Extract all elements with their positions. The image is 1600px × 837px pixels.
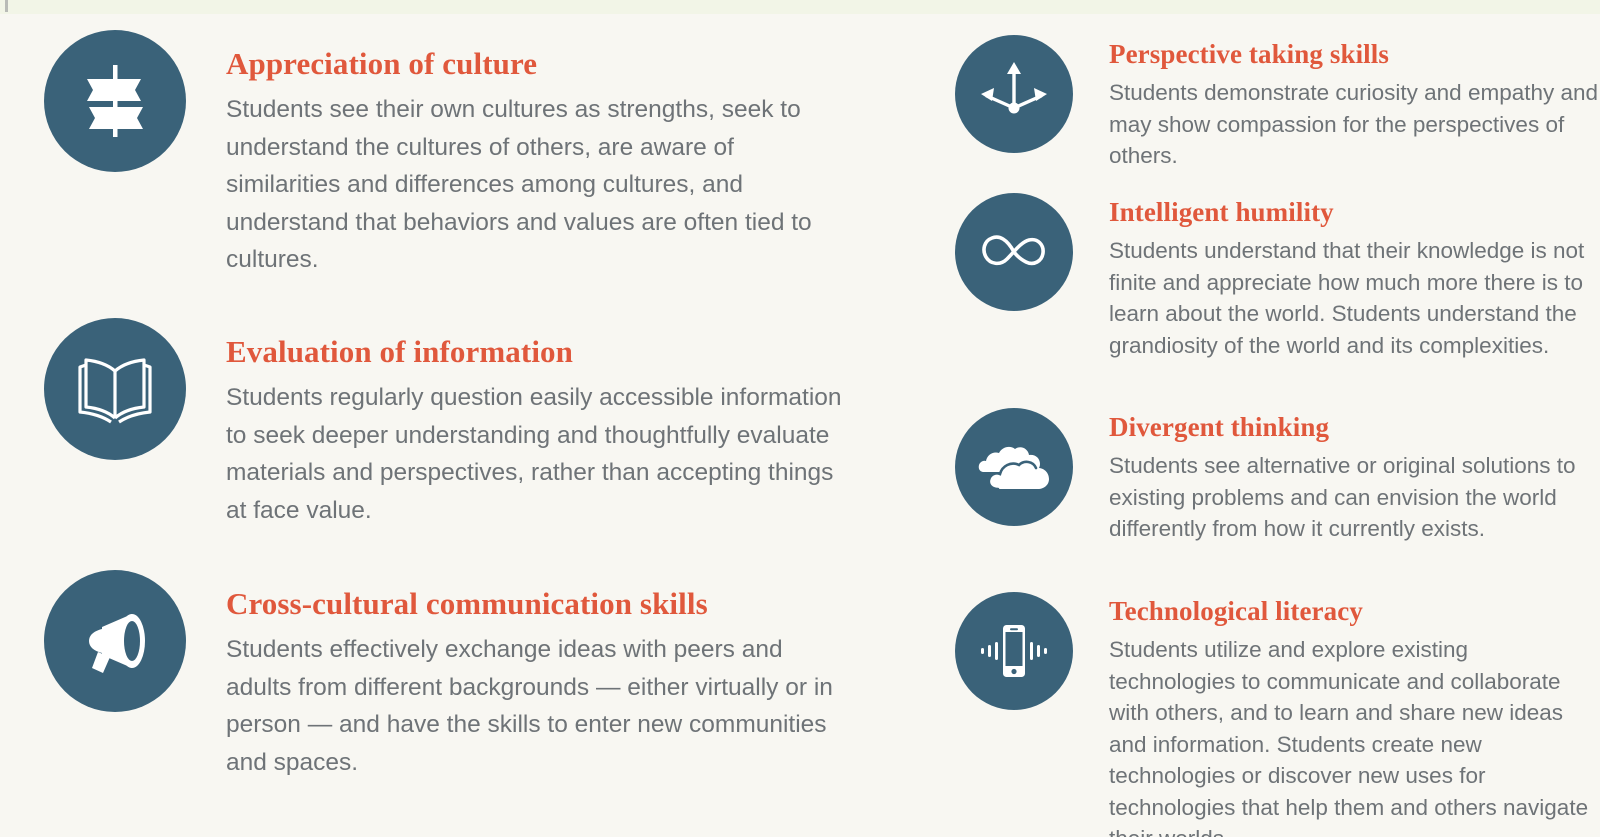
card-body: Divergent thinking Students see alternat… — [1073, 408, 1600, 545]
card-title: Appreciation of culture — [226, 47, 844, 81]
infinity-icon — [955, 193, 1073, 311]
card-description: Students utilize and explore existing te… — [1109, 634, 1600, 837]
card-perspective-taking-skills: Perspective taking skills Students demon… — [955, 35, 1600, 172]
card-description: Students regularly question easily acces… — [226, 379, 844, 529]
right-column: Perspective taking skills Students demon… — [845, 0, 1600, 837]
three-arrows-icon — [955, 35, 1073, 153]
card-description: Students demonstrate curiosity and empat… — [1109, 77, 1600, 172]
card-title: Perspective taking skills — [1109, 39, 1600, 69]
card-body: Perspective taking skills Students demon… — [1073, 35, 1600, 172]
card-title: Cross-cultural communication skills — [226, 587, 844, 621]
card-cross-cultural-communication-skills: Cross-cultural communication skills Stud… — [44, 570, 844, 781]
card-body: Cross-cultural communication skills Stud… — [186, 570, 844, 781]
card-body: Evaluation of information Students regul… — [186, 318, 844, 529]
card-intelligent-humility: Intelligent humility Students understand… — [955, 193, 1600, 361]
card-title: Evaluation of information — [226, 335, 844, 369]
card-body: Intelligent humility Students understand… — [1073, 193, 1600, 361]
left-column: Appreciation of culture Students see the… — [0, 0, 845, 837]
card-description: Students understand that their knowledge… — [1109, 235, 1600, 361]
card-description: Students effectively exchange ideas with… — [226, 631, 844, 781]
card-title: Technological literacy — [1109, 596, 1600, 626]
megaphone-icon — [44, 570, 186, 712]
card-divergent-thinking: Divergent thinking Students see alternat… — [955, 408, 1600, 545]
card-technological-literacy: Technological literacy Students utilize … — [955, 592, 1600, 837]
card-description: Students see their own cultures as stren… — [226, 91, 844, 279]
card-title: Divergent thinking — [1109, 412, 1600, 442]
clouds-icon — [955, 408, 1073, 526]
open-book-icon — [44, 318, 186, 460]
card-appreciation-of-culture: Appreciation of culture Students see the… — [44, 30, 844, 279]
card-title: Intelligent humility — [1109, 197, 1600, 227]
card-description: Students see alternative or original sol… — [1109, 450, 1600, 545]
card-body: Technological literacy Students utilize … — [1073, 592, 1600, 837]
card-evaluation-of-information: Evaluation of information Students regul… — [44, 318, 844, 529]
signpost-icon — [44, 30, 186, 172]
smartphone-signal-icon — [955, 592, 1073, 710]
card-body: Appreciation of culture Students see the… — [186, 30, 844, 279]
competency-board: Appreciation of culture Students see the… — [0, 0, 1600, 837]
